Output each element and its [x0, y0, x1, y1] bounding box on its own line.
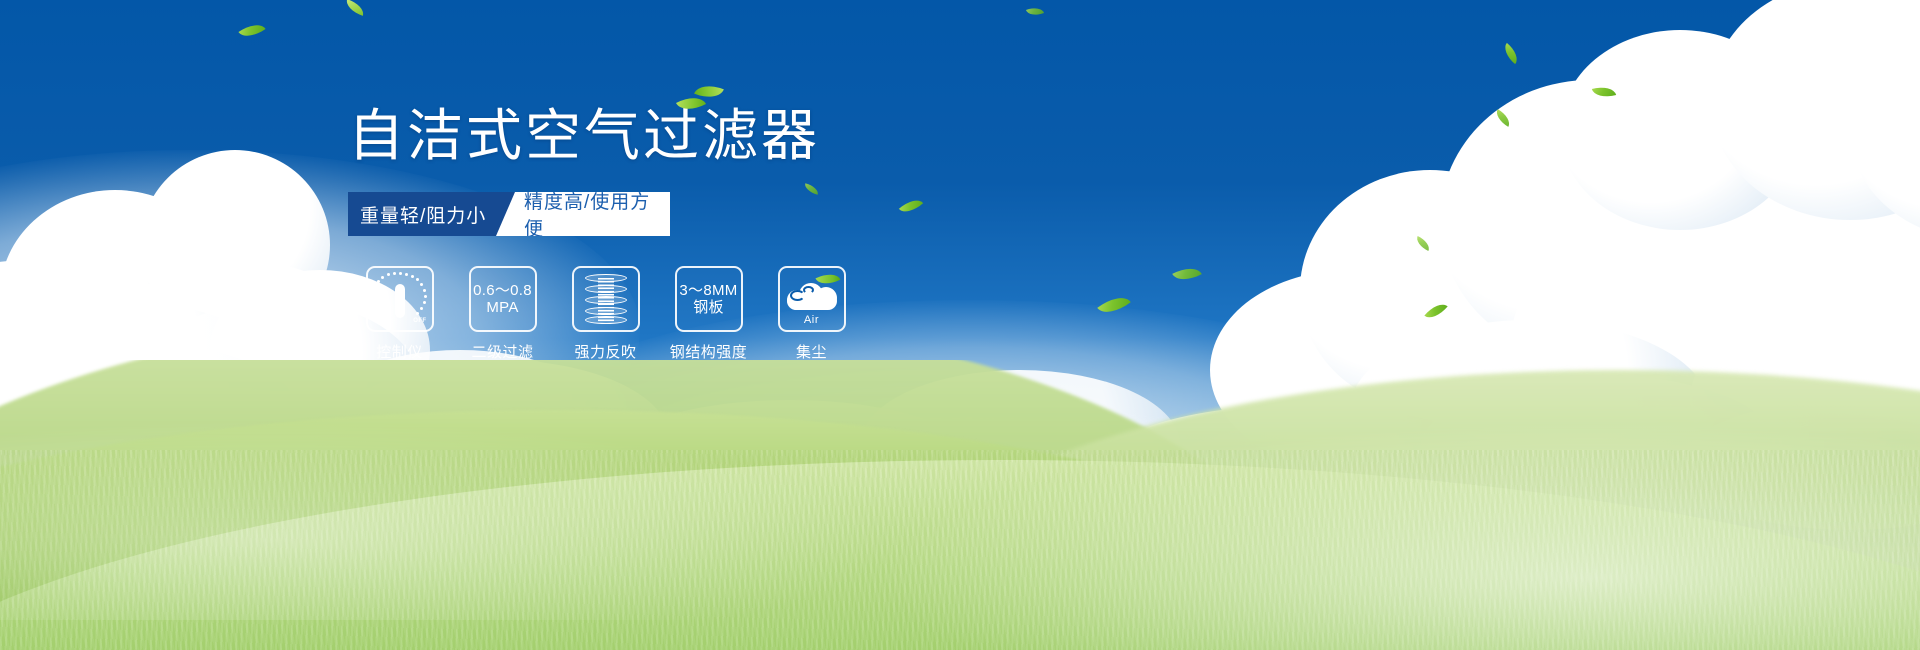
feature-label: 二级过滤 — [471, 341, 533, 362]
pressure-unit: MPA — [473, 299, 532, 316]
feature-icon-box: NO OFF — [366, 266, 434, 332]
grass-highlight-left — [0, 420, 900, 620]
gauge-dial-icon: NO OFF — [371, 272, 429, 326]
hero-banner: 自洁式空气过滤器 重量轻/阻力小 精度高/使用方便 — [0, 0, 1920, 650]
floating-leaf-3 — [1026, 5, 1044, 19]
feature-two-stage-filter[interactable]: 0.6～0.8 MPA 二级过滤 — [451, 266, 554, 362]
feature-label: 强力反吹 — [574, 341, 636, 362]
feature-label: 集尘 — [796, 341, 827, 362]
feature-icon-box: 0.6～0.8 MPA — [469, 266, 537, 332]
gauge-label-no: NO — [370, 299, 380, 305]
tag-group: 重量轻/阻力小 精度高/使用方便 — [348, 192, 670, 236]
grass-highlight-right — [820, 410, 1920, 650]
title-row: 自洁式空气过滤器 — [348, 100, 1048, 172]
steel-plate-text-icon: 3～8MM 钢板 — [679, 282, 737, 316]
floating-leaf-10 — [1172, 262, 1202, 287]
steel-material: 钢板 — [679, 299, 737, 316]
steel-thickness: 3～8MM — [679, 282, 737, 299]
feature-icon-box: Air — [778, 266, 846, 332]
feature-list: NO OFF 控制仪 0.6～0.8 MPA 二级过滤 — [348, 266, 1048, 362]
cloud-swirl-1 — [790, 290, 805, 301]
floating-leaf-2 — [344, 0, 366, 16]
filter-stack-icon — [585, 274, 627, 324]
feature-label: 钢结构强度 — [670, 341, 748, 362]
leaf-pair-icon — [678, 82, 732, 116]
feature-icon-box — [572, 266, 640, 332]
cloud-swirl-2 — [803, 286, 814, 294]
grass-field — [0, 360, 1920, 650]
pressure-text-icon: 0.6～0.8 MPA — [473, 282, 532, 316]
floating-leaf-4 — [1500, 43, 1522, 64]
gauge-label-off: OFF — [413, 318, 426, 324]
tag-lightweight[interactable]: 重量轻/阻力小 — [348, 192, 520, 236]
feature-icon-box: 3～8MM 钢板 — [675, 266, 743, 332]
feature-controller[interactable]: NO OFF 控制仪 — [348, 266, 451, 362]
gauge-needle — [395, 284, 405, 318]
feature-steel-strength[interactable]: 3～8MM 钢板 钢结构强度 — [657, 266, 760, 362]
feature-label: 控制仪 — [376, 341, 423, 362]
air-cloud-icon: Air — [783, 274, 841, 324]
banner-content: 自洁式空气过滤器 重量轻/阻力小 精度高/使用方便 — [348, 100, 1048, 362]
tag-precision[interactable]: 精度高/使用方便 — [496, 192, 670, 236]
air-label: Air — [783, 314, 841, 326]
feature-strong-backblow[interactable]: 强力反吹 — [554, 266, 657, 362]
feature-dust-collection[interactable]: Air 集尘 — [760, 266, 863, 362]
pressure-range: 0.6～0.8 — [473, 282, 532, 299]
floating-leaf-1 — [238, 18, 265, 42]
